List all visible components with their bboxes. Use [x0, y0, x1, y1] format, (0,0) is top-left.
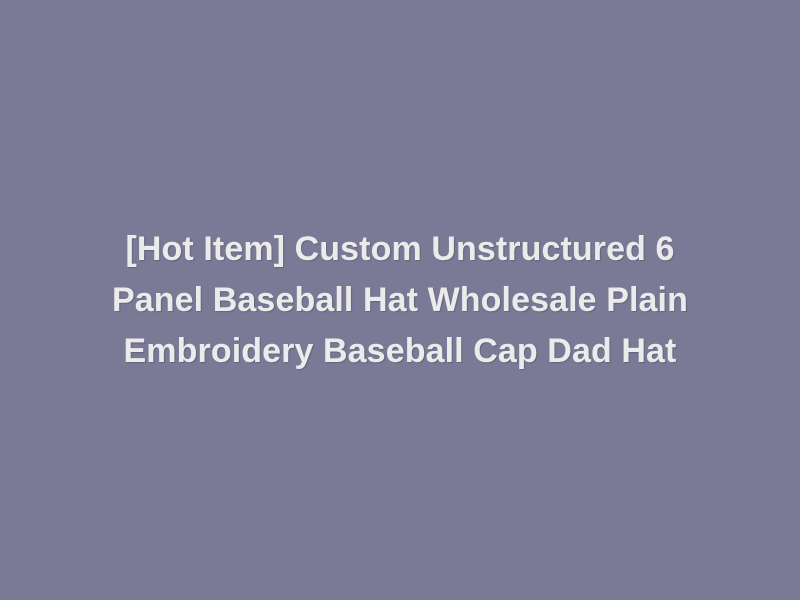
alt-text-line-3: Embroidery Baseball Cap Dad Hat	[60, 326, 740, 377]
alt-text-line-1: [Hot Item] Custom Unstructured 6	[60, 224, 740, 275]
image-placeholder-card: [Hot Item] Custom Unstructured 6 Panel B…	[0, 0, 800, 600]
alt-text-block: [Hot Item] Custom Unstructured 6 Panel B…	[50, 224, 750, 377]
alt-text-line-2: Panel Baseball Hat Wholesale Plain	[60, 275, 740, 326]
